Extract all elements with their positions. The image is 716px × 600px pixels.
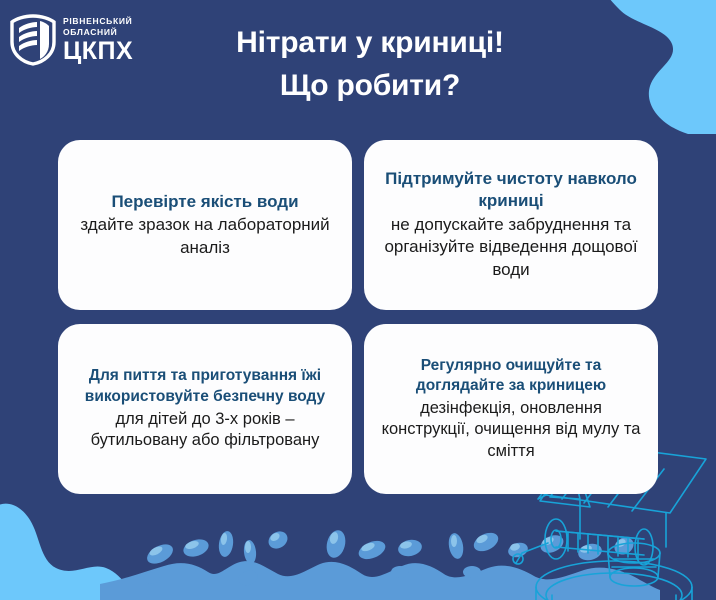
- advice-card-keep-area-clean: Підтримуйте чистоту навколо криниці не д…: [364, 140, 658, 310]
- water-splash-icon: [100, 522, 660, 600]
- advice-card-heading: Перевірте якість води: [111, 191, 298, 213]
- advice-card-heading: Для пиття та приготування їжі використов…: [72, 366, 338, 406]
- advice-card-check-water-quality: Перевірте якість води здайте зразок на л…: [58, 140, 352, 310]
- advice-card-use-safe-water: Для пиття та приготування їжі використов…: [58, 324, 352, 494]
- logo-line-2: ОБЛАСНИЙ: [63, 28, 133, 37]
- headline-line-1: Нітрати у криниці!: [160, 22, 580, 65]
- page-title: Нітрати у криниці! Що робити?: [160, 22, 580, 107]
- advice-card-heading: Регулярно очищуйте та доглядайте за крин…: [378, 356, 644, 396]
- advice-card-body: для дітей до 3-х років – бутильовану або…: [72, 409, 338, 452]
- logo-wordmark: РІВНЕНСЬКИЙ ОБЛАСНИЙ ЦКПХ: [63, 17, 133, 64]
- logo-line-3: ЦКПХ: [63, 39, 133, 64]
- advice-card-body: дезінфекція, оновлення конструкції, очищ…: [378, 398, 644, 462]
- advice-card-clean-and-maintain: Регулярно очищуйте та доглядайте за крин…: [364, 324, 658, 494]
- advice-card-body: здайте зразок на лабораторний аналіз: [72, 214, 338, 259]
- organization-logo: РІВНЕНСЬКИЙ ОБЛАСНИЙ ЦКПХ: [10, 14, 133, 66]
- poster-canvas: РІВНЕНСЬКИЙ ОБЛАСНИЙ ЦКПХ Нітрати у крин…: [0, 0, 716, 600]
- advice-card-heading: Підтримуйте чистоту навколо криниці: [378, 168, 644, 212]
- logo-line-1: РІВНЕНСЬКИЙ: [63, 17, 133, 26]
- advice-card-body: не допускайте забруднення та організуйте…: [378, 214, 644, 282]
- headline-line-2: Що робити?: [160, 65, 580, 108]
- shield-logo-icon: [10, 14, 56, 66]
- advice-card-grid: Перевірте якість води здайте зразок на л…: [58, 140, 658, 494]
- blob-bottom-left-icon: [0, 476, 220, 600]
- blob-top-right-icon: [570, 0, 716, 134]
